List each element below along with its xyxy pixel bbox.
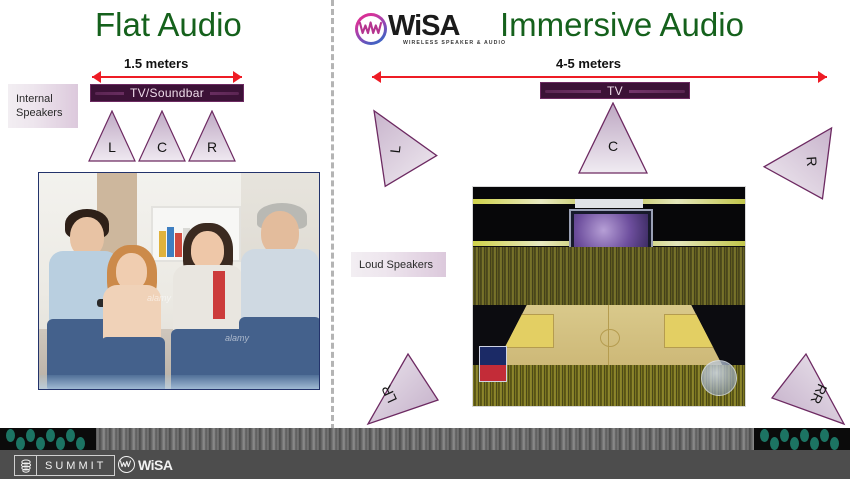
- speaker-label: R: [188, 139, 236, 155]
- photo-family-watching-tv: alamy alamy: [38, 172, 320, 390]
- wisa-circle-gradient-icon: [355, 13, 387, 45]
- loud-speakers-callout: Loud Speakers: [351, 252, 446, 277]
- decorative-band: [0, 428, 850, 450]
- loud-speakers-label: Loud Speakers: [359, 258, 433, 272]
- band-dots-left: [0, 428, 96, 450]
- footer-wisa-circle-icon: [118, 456, 135, 473]
- footer-wisa-logo: WiSA: [118, 456, 172, 473]
- footer-bar: SUMMIT WiSA 11: [0, 450, 850, 479]
- photo-basketball-arena: [472, 186, 746, 407]
- tv-bar-right: TV: [540, 82, 690, 99]
- summit-logo: SUMMIT: [14, 455, 115, 476]
- measure-arrow-left: [92, 70, 242, 84]
- tv-soundbar-left: TV/Soundbar: [90, 84, 244, 102]
- speaker-rear-right: RR: [768, 352, 850, 430]
- speaker-left-R: R: [188, 110, 236, 162]
- slide-root: Flat Audio Immersive Audio WiSA WIRELESS…: [0, 0, 850, 479]
- photo-watermark-icon: [701, 360, 737, 396]
- photo-watermark: alamy: [147, 293, 171, 303]
- tv-bar-right-label: TV: [601, 84, 629, 98]
- tv-soundbar-left-label: TV/Soundbar: [124, 86, 210, 100]
- wisa-logo: WiSA WIRELESS SPEAKER & AUDIO: [355, 12, 490, 52]
- measure-label-right: 4-5 meters: [556, 56, 621, 71]
- internal-speakers-callout: Internal Speakers: [8, 84, 78, 128]
- measure-label-left: 1.5 meters: [124, 56, 188, 71]
- speaker-label: L: [88, 139, 136, 155]
- speaker-left-C: C: [138, 110, 186, 162]
- page-title-flat-audio: Flat Audio: [95, 6, 242, 44]
- page-title-immersive-audio: Immersive Audio: [500, 6, 744, 44]
- footer-wisa-wordmark: WiSA: [138, 457, 172, 473]
- wisa-tagline: WIRELESS SPEAKER & AUDIO: [403, 40, 506, 46]
- internal-speakers-line1: Internal: [16, 92, 62, 106]
- speaker-center-right: C: [578, 102, 648, 174]
- band-dots-right: [754, 428, 850, 450]
- speaker-front-left: L: [363, 108, 443, 193]
- internal-speakers-line2: Speakers: [16, 106, 62, 120]
- speaker-label: C: [138, 139, 186, 155]
- summit-wordmark: SUMMIT: [37, 460, 114, 472]
- panel-divider: [331, 0, 334, 430]
- summit-emblem-icon: [15, 456, 37, 475]
- speaker-left-L: L: [88, 110, 136, 162]
- wisa-waveform-icon: [359, 20, 383, 36]
- speaker-front-right: R: [759, 123, 848, 205]
- wisa-wordmark: WiSA: [388, 10, 459, 43]
- speaker-label: C: [578, 138, 648, 154]
- speaker-rear-left: LR: [362, 352, 444, 428]
